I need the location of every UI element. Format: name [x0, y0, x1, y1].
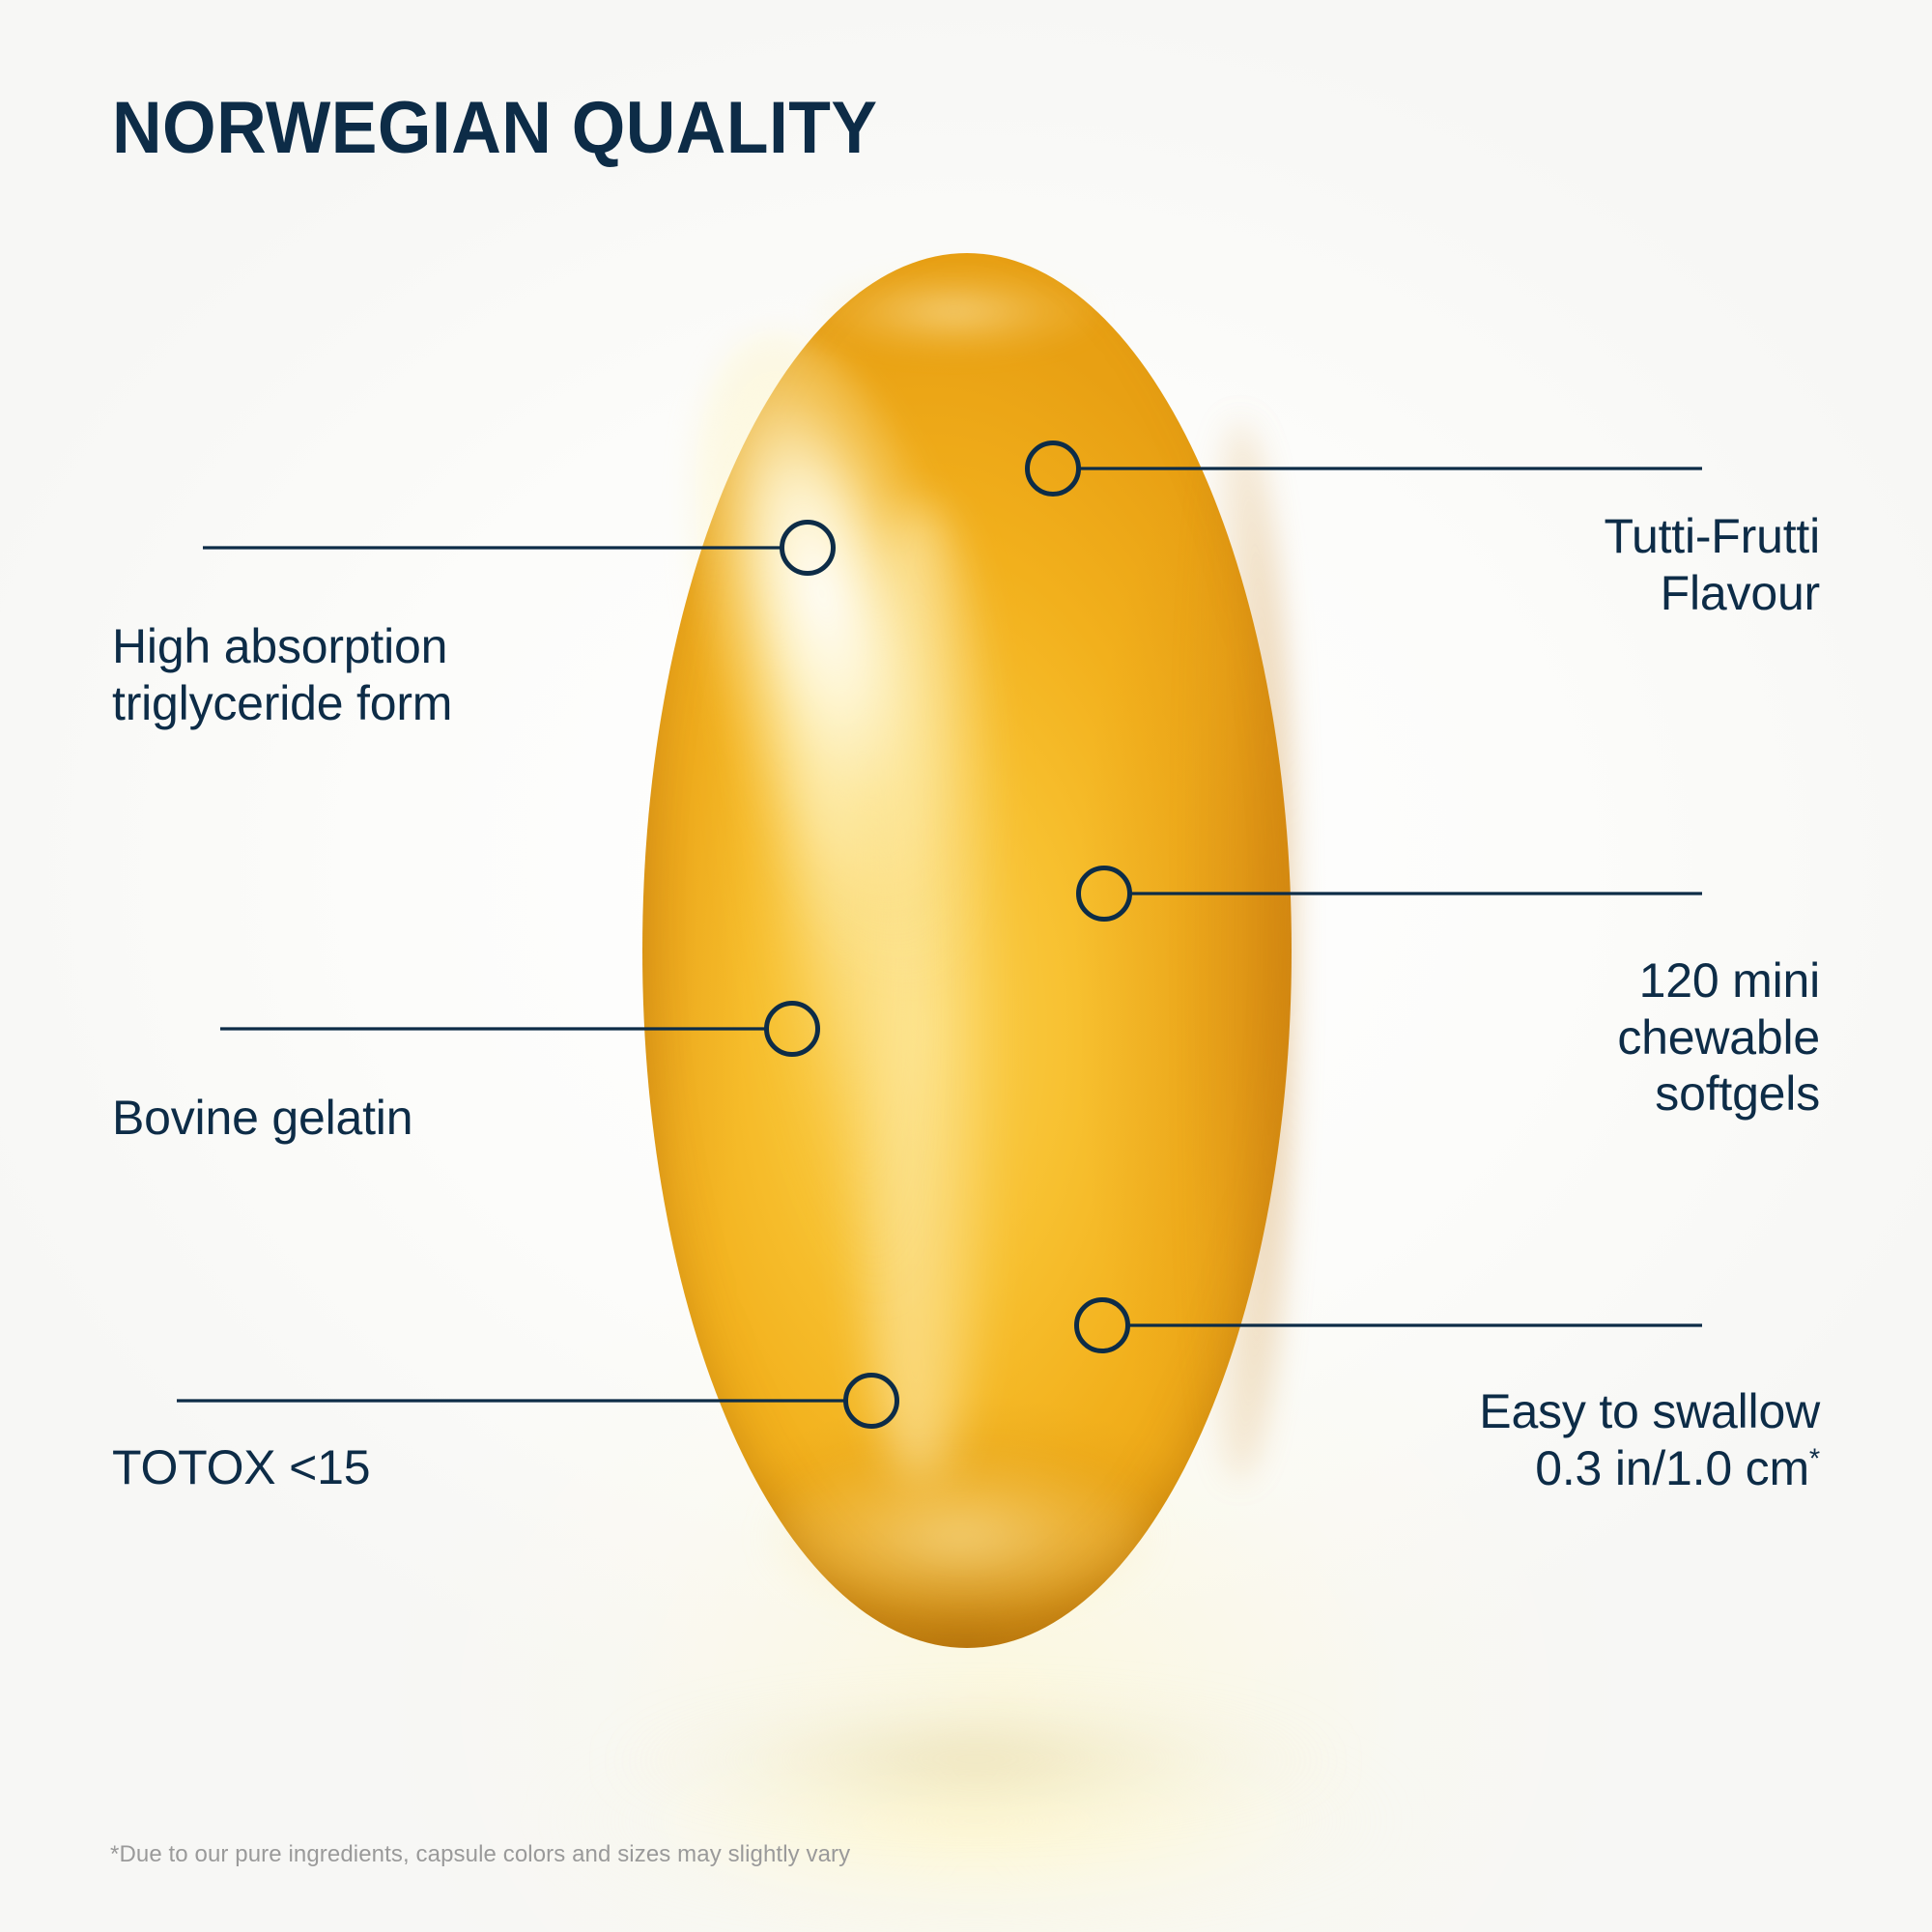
callout-line-1: Tutti-Frutti: [1279, 508, 1820, 565]
callout-label-mini-softgels: 120 mini chewable softgels: [1279, 952, 1820, 1122]
callout-line-2: chewable: [1279, 1009, 1820, 1066]
callout-line-1: TOTOX <15: [112, 1439, 653, 1496]
capsule-bottom-bounce-light: [772, 1460, 1149, 1613]
callout-line-3: softgels: [1279, 1065, 1820, 1122]
callout-label-high-absorption: High absorption triglyceride form: [112, 618, 653, 731]
callout-line-2: triglyceride form: [112, 675, 653, 732]
footnote-asterisk-marker: *: [1809, 1443, 1820, 1474]
page-title: NORWEGIAN QUALITY: [112, 92, 878, 165]
capsule-ground-shadow: [599, 1702, 1352, 1837]
callout-label-bovine-gelatin: Bovine gelatin: [112, 1090, 653, 1147]
callout-line-1: Easy to swallow: [1221, 1383, 1820, 1440]
callout-label-tutti-frutti: Tutti-Frutti Flavour: [1279, 508, 1820, 621]
callout-line-2: 0.3 in/1.0 cm*: [1221, 1440, 1820, 1497]
callout-line-2: Flavour: [1279, 565, 1820, 622]
callout-line-1: 120 mini: [1279, 952, 1820, 1009]
callout-line-1: Bovine gelatin: [112, 1090, 653, 1147]
callout-label-totox: TOTOX <15: [112, 1439, 653, 1496]
softgel-capsule-image: [642, 253, 1292, 1648]
capsule-top-rim-light: [811, 270, 1097, 354]
callout-label-easy-to-swallow: Easy to swallow 0.3 in/1.0 cm*: [1221, 1383, 1820, 1496]
infographic-canvas: NORWEGIAN QUALITY: [0, 0, 1932, 1932]
callout-line-1: High absorption: [112, 618, 653, 675]
capsule-right-edge-shading: [1187, 420, 1292, 1480]
callout-line-2-text: 0.3 in/1.0 cm: [1535, 1441, 1809, 1495]
footnote-disclaimer: *Due to our pure ingredients, capsule co…: [110, 1841, 850, 1868]
